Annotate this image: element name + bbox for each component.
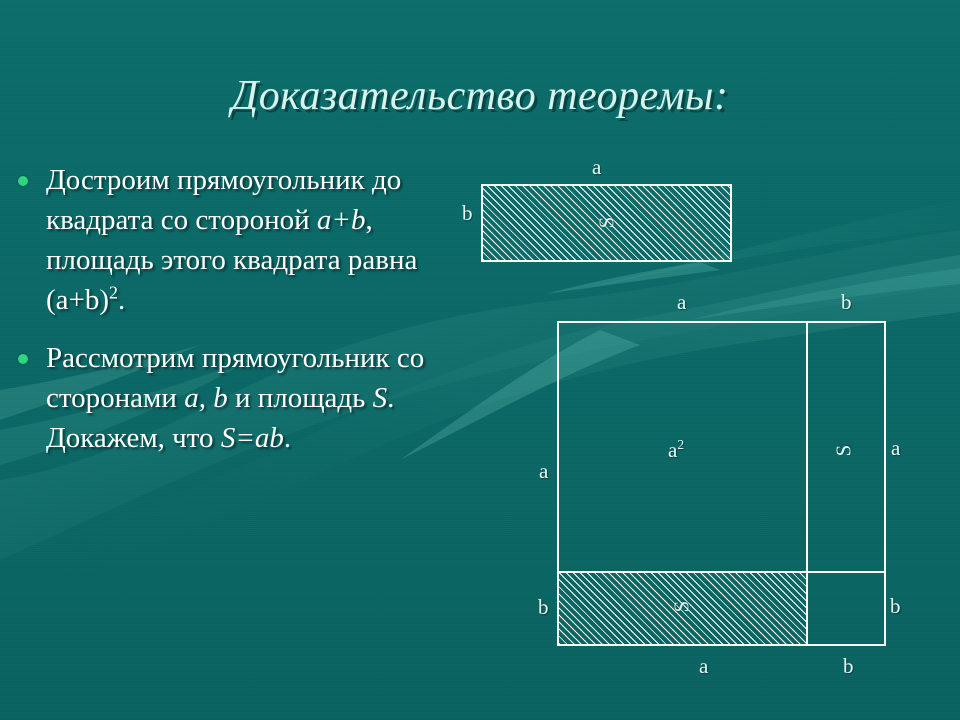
square-cell-label-bottom-left-S: S (671, 601, 692, 613)
square-label-bottom-b: b (843, 656, 854, 677)
a-squared-exponent: 2 (677, 437, 684, 452)
square-label-right-a: a (891, 438, 900, 459)
square-cell-label-a-squared: a2 (668, 440, 684, 461)
square-vertical-divider (806, 321, 808, 646)
square-label-bottom-a: a (699, 656, 708, 677)
square-label-top-b: b (841, 292, 852, 313)
square-label-right-b: b (890, 596, 901, 617)
square-label-left-a: a (539, 461, 548, 482)
square-label-top-a: a (677, 292, 686, 313)
a-squared-text: a (668, 438, 677, 462)
square-cell-label-top-right-S: S (833, 445, 854, 457)
figure-big-square: a2 S S a b a b a b a b (0, 0, 960, 720)
slide-canvas: Доказательство теоремы: Достроим прямоуг… (0, 0, 960, 720)
square-label-left-b: b (538, 597, 549, 618)
